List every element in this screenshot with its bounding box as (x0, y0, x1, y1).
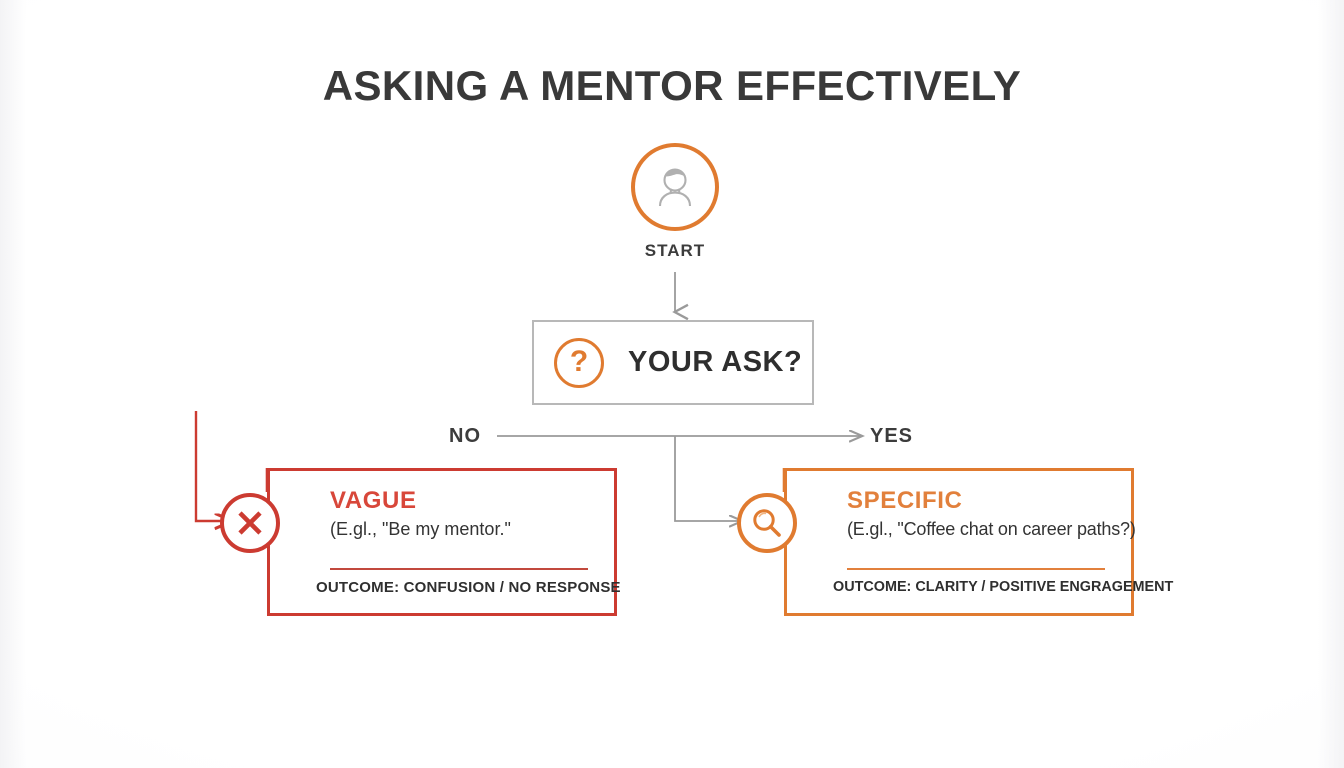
diagram-canvas: ASKING A MENTOR EFFECTIVELY (0, 0, 1344, 768)
card-body-vague: VAGUE (E.gl., "Be my mentor." (270, 471, 614, 540)
card-outcome-specific: OUTCOME: CLARITY / POSITIVE ENGRAGEMENT (833, 579, 1129, 595)
decision-node[interactable]: ? YOUR ASK? (532, 320, 814, 405)
outcome-card-vague[interactable]: VAGUE (E.gl., "Be my mentor." OUTCOME: C… (267, 468, 617, 616)
card-heading-vague: VAGUE (330, 488, 598, 513)
card-example-specific: (E.gl., "Coffee chat on career paths?) (847, 519, 1115, 540)
start-node[interactable]: START (631, 143, 719, 231)
decision-label: YOUR ASK? (628, 346, 802, 379)
branch-label-no: NO (449, 425, 481, 448)
branch-label-yes: YES (870, 425, 913, 448)
question-mark-icon: ? (554, 338, 604, 388)
person-icon (648, 160, 702, 214)
card-body-specific: SPECIFIC (E.gl., "Coffee chat on career … (787, 471, 1131, 540)
magnifier-icon (737, 493, 797, 553)
start-label: START (591, 241, 759, 261)
edge-vignette-right (1318, 0, 1344, 768)
start-circle (631, 143, 719, 231)
x-mark-icon (220, 493, 280, 553)
card-example-vague: (E.gl., "Be my mentor." (330, 519, 598, 540)
card-heading-specific: SPECIFIC (847, 488, 1115, 513)
connector-yes-to-specific (675, 436, 742, 521)
edge-vignette-left (0, 0, 26, 768)
card-outcome-vague: OUTCOME: CONFUSION / NO RESPONSE (316, 579, 612, 596)
page-title: ASKING A MENTOR EFFECTIVELY (0, 62, 1344, 110)
card-divider-vague (330, 568, 588, 570)
card-divider-specific (847, 568, 1105, 570)
outcome-card-specific[interactable]: SPECIFIC (E.gl., "Coffee chat on career … (784, 468, 1134, 616)
